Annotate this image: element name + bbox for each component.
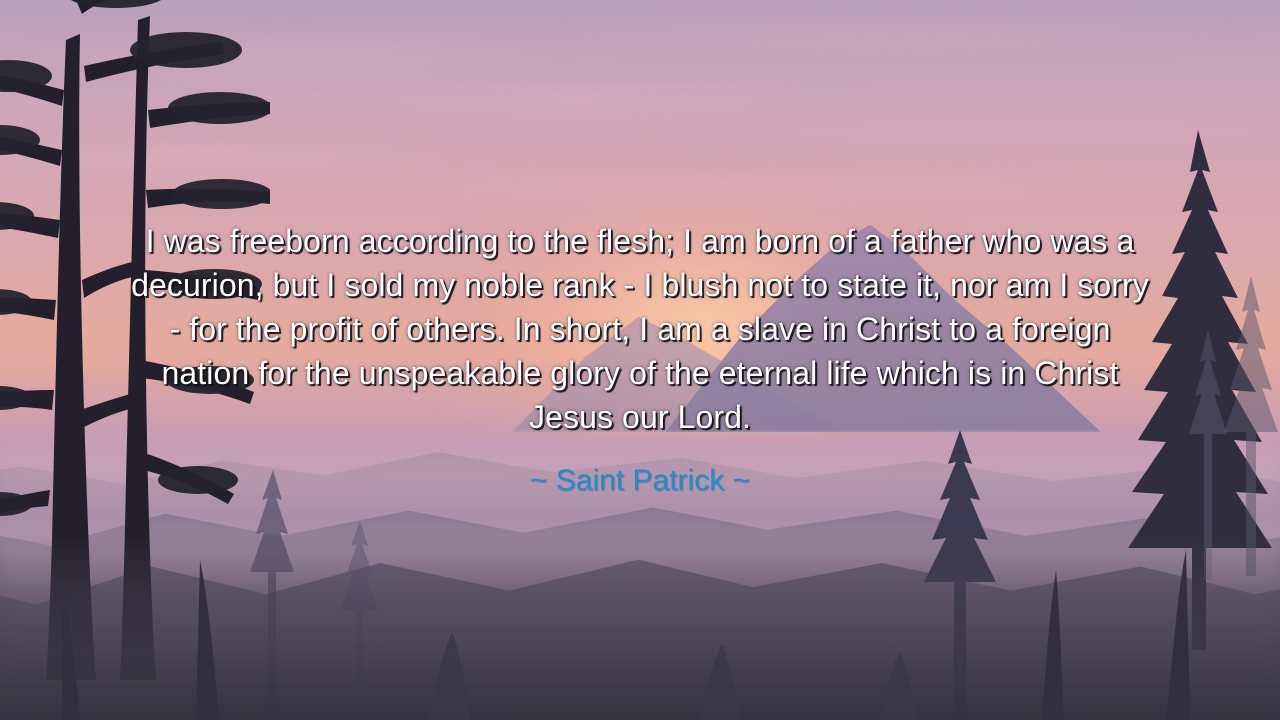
- text-overlay: I was freeborn according to the flesh; I…: [0, 0, 1280, 720]
- quote-text: I was freeborn according to the flesh; I…: [130, 219, 1150, 439]
- quote-attribution: ~ Saint Patrick ~: [530, 461, 750, 501]
- quote-card: I was freeborn according to the flesh; I…: [0, 0, 1280, 720]
